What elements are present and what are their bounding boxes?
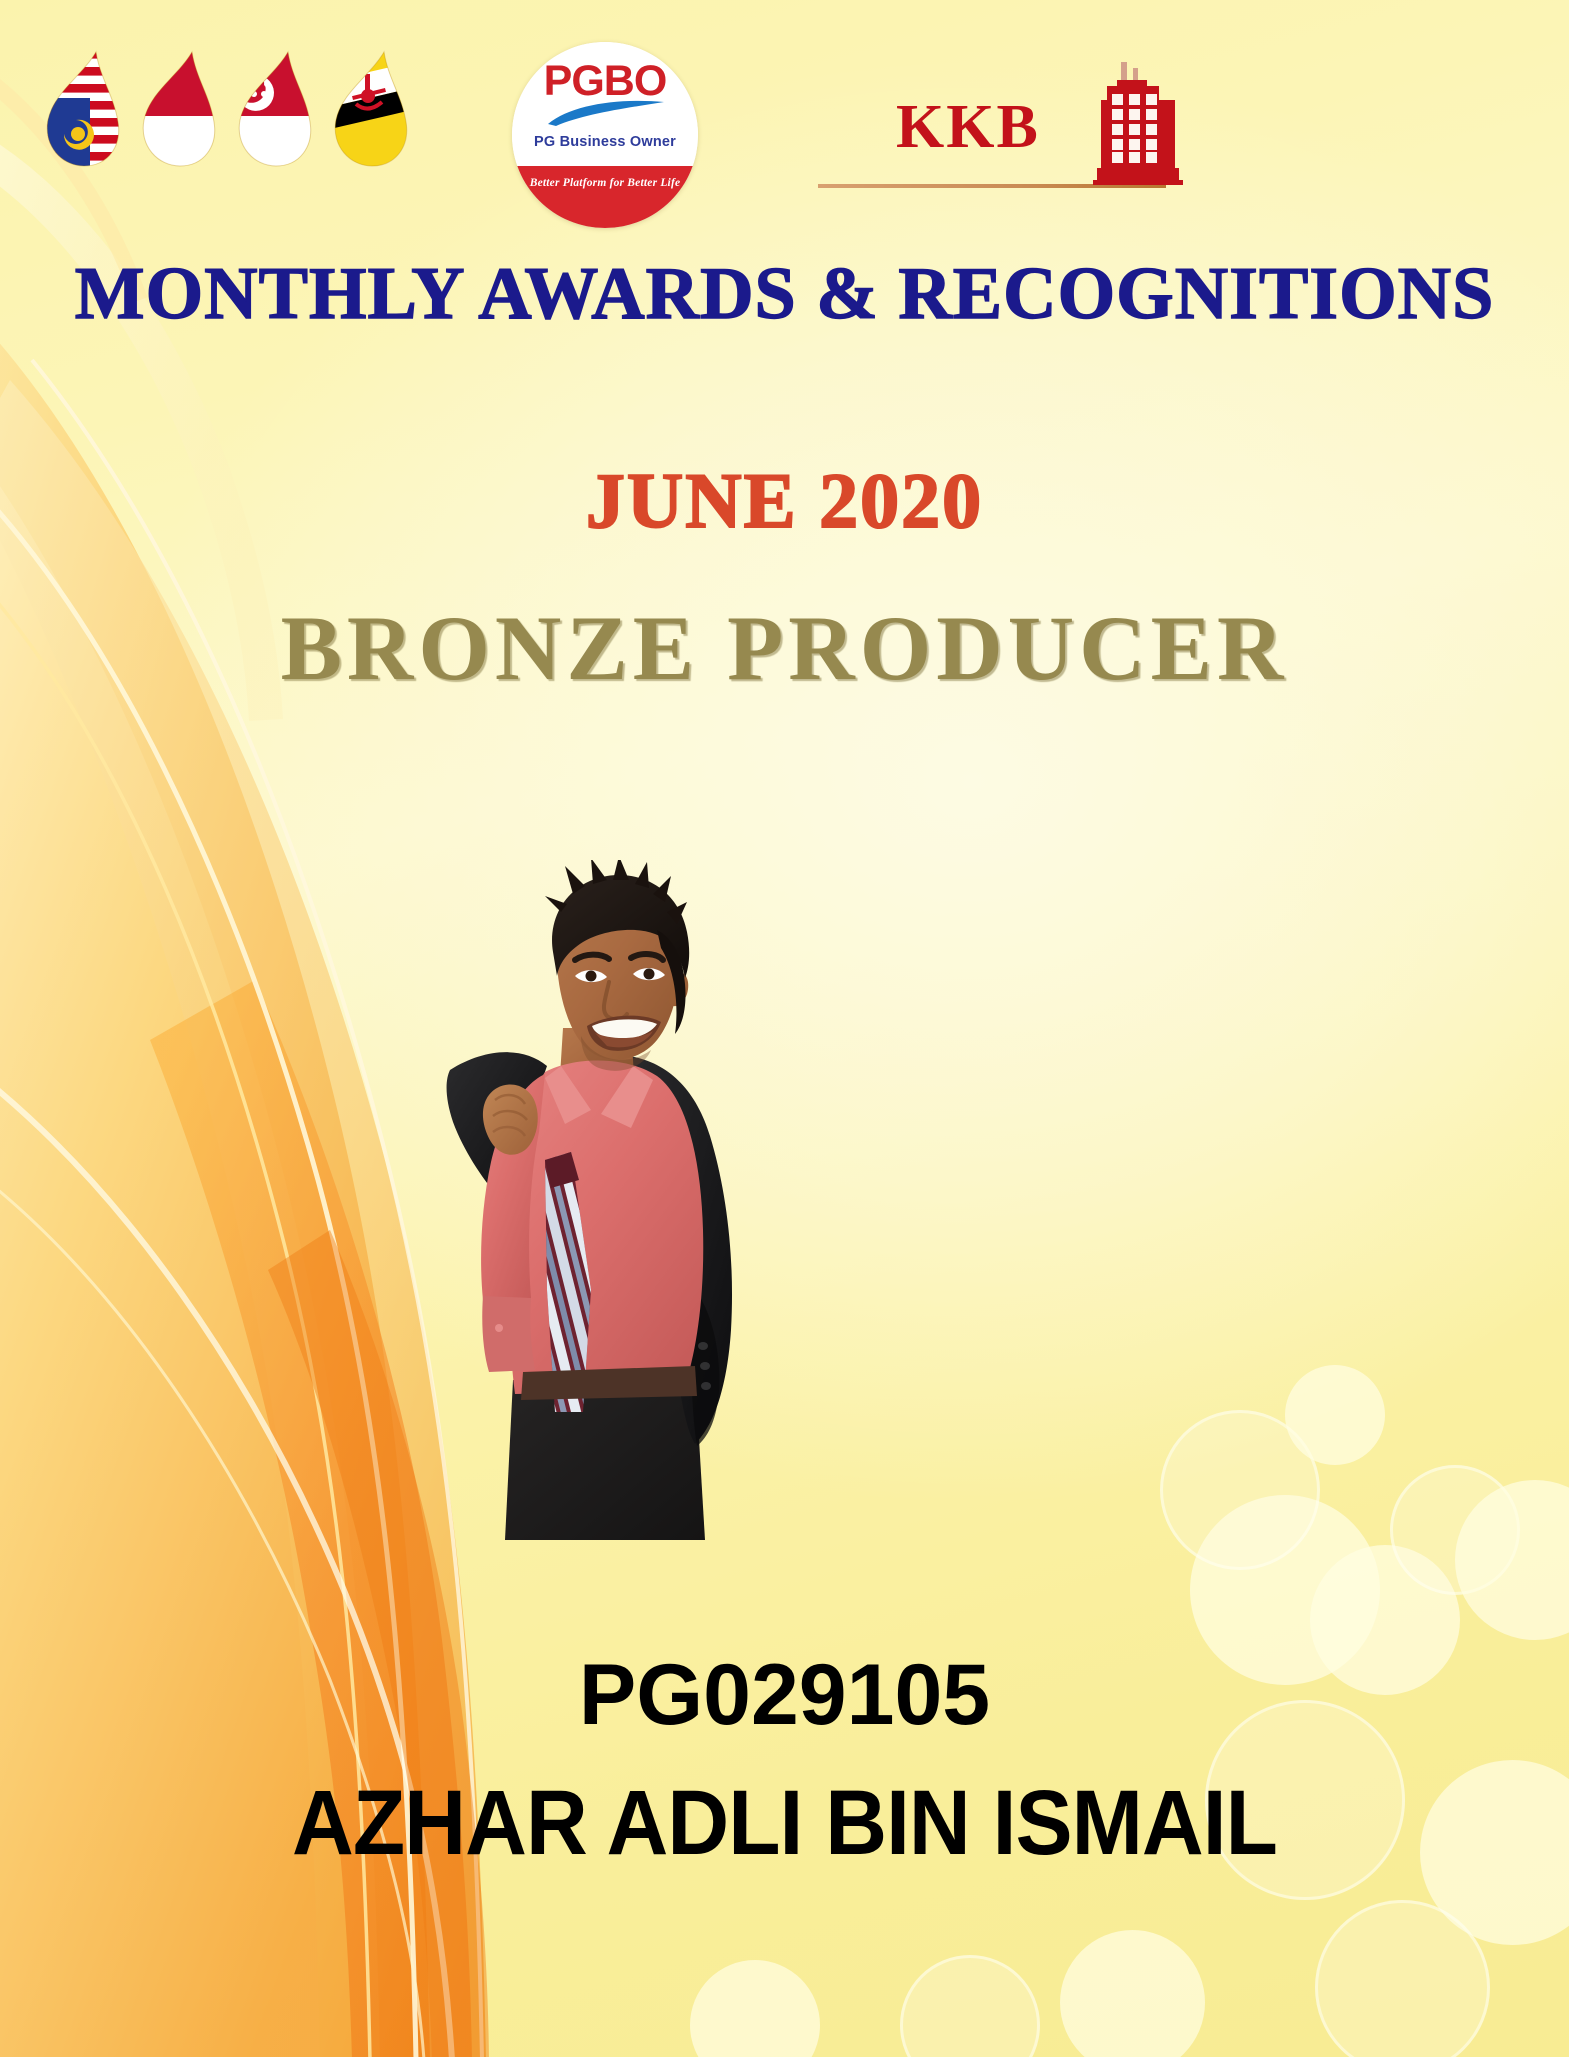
award-poster: PGBO PG Business Owner Better Platform f…	[0, 0, 1569, 2057]
bokeh-circle	[690, 1960, 820, 2057]
bokeh-circle	[1285, 1365, 1385, 1465]
indonesia-flag	[134, 48, 220, 168]
pgbo-subtitle: PG Business Owner	[512, 134, 698, 150]
poster-header: PGBO PG Business Owner Better Platform f…	[0, 0, 1569, 240]
brunei-flag	[326, 48, 412, 168]
bokeh-circle	[900, 1955, 1040, 2057]
main-title: MONTHLY AWARDS & RECOGNITIONS	[0, 256, 1569, 334]
member-name: AZHAR ADLI BIN ISMAIL	[55, 1775, 1514, 1872]
bokeh-circle	[1390, 1465, 1520, 1595]
pgbo-logo-bottom: Better Platform for Better Life	[512, 166, 698, 228]
bokeh-circle	[0, 1415, 85, 1530]
pgbo-logo-top: PGBO PG Business Owner	[512, 42, 698, 166]
bokeh-circle	[1160, 1410, 1320, 1570]
pgbo-logo: PGBO PG Business Owner Better Platform f…	[512, 42, 698, 228]
bokeh-circle	[20, 1480, 210, 1670]
singapore-flag	[230, 48, 316, 168]
flag-row	[38, 48, 412, 168]
awardee-photo	[395, 860, 855, 1540]
pgbo-swoosh-icon	[546, 100, 666, 126]
bokeh-circle	[0, 1870, 170, 2057]
malaysia-flag	[38, 48, 124, 168]
kkb-logo: KKB	[818, 96, 1518, 216]
bokeh-circle	[1315, 1900, 1490, 2057]
bokeh-circle	[1455, 1480, 1569, 1640]
pgbo-wordmark: PGBO	[512, 60, 698, 103]
pgbo-tagline: Better Platform for Better Life	[512, 177, 698, 189]
award-title: BRONZE PRODUCER	[0, 600, 1569, 697]
bokeh-circle	[1060, 1930, 1205, 2057]
kkb-label: KKB	[896, 96, 1040, 158]
member-id: PG029105	[0, 1650, 1569, 1740]
building-icon	[1093, 56, 1183, 188]
month-title: JUNE 2020	[0, 460, 1569, 542]
